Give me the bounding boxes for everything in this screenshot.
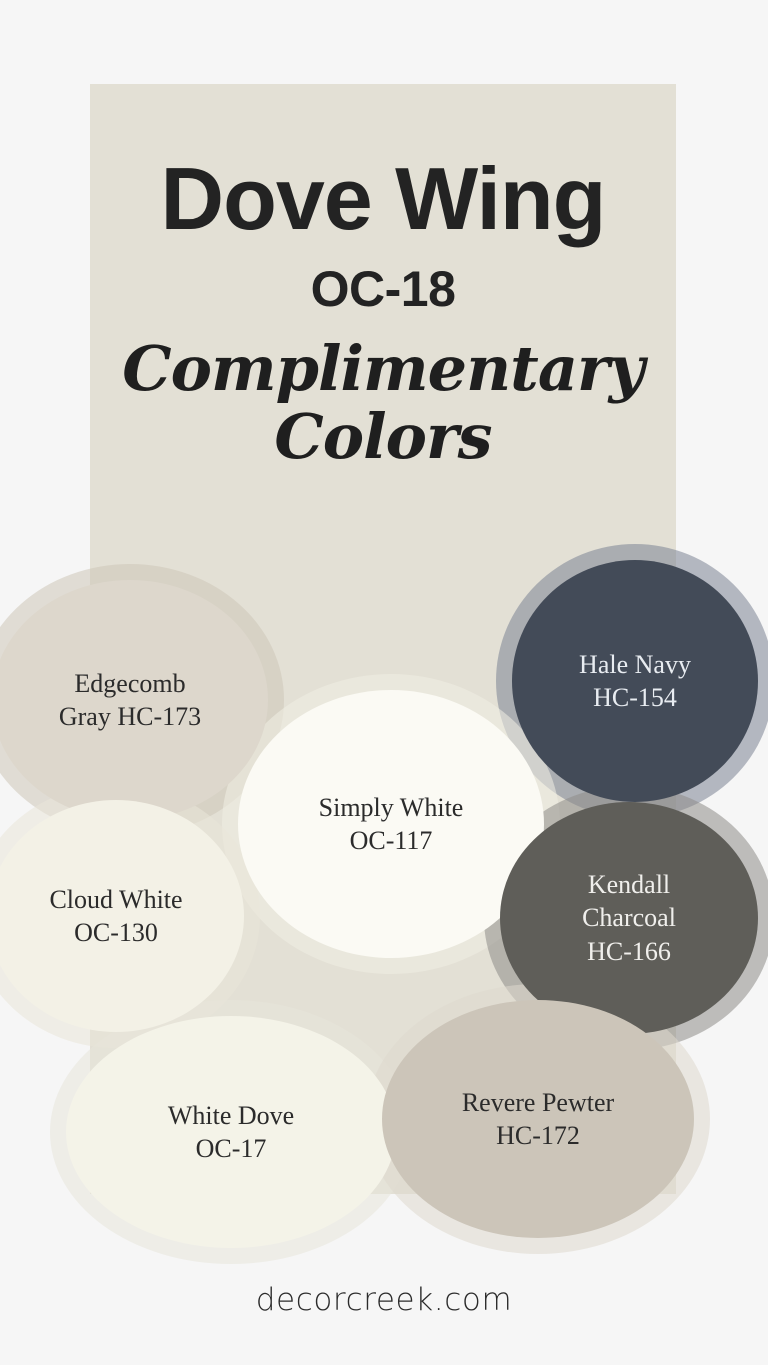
swatch-hale-navy[interactable]: Hale Navy HC-154 [512, 560, 758, 802]
swatch-label-revere-pewter: Revere Pewter HC-172 [448, 1086, 628, 1153]
subtitle-line-1: Complimentary [90, 338, 676, 400]
subtitle-line-2: Colors [90, 404, 676, 469]
swatch-cloud-white[interactable]: Cloud White OC-130 [0, 800, 244, 1032]
swatch-label-kendall-charcoal: Kendall Charcoal HC-166 [568, 868, 690, 968]
page-title: Dove Wing [90, 156, 676, 242]
swatch-label-white-dove: White Dove OC-17 [154, 1099, 308, 1166]
header-text-block: Dove Wing OC-18 Complimentary Colors [90, 84, 676, 469]
swatch-label-edgecomb-gray: Edgecomb Gray HC-173 [45, 667, 215, 734]
swatch-label-simply-white: Simply White OC-117 [305, 791, 478, 858]
site-url[interactable]: decorcreek.com [256, 1282, 513, 1318]
swatch-edgecomb-gray[interactable]: Edgecomb Gray HC-173 [0, 580, 268, 820]
swatch-label-hale-navy: Hale Navy HC-154 [565, 648, 705, 715]
swatch-revere-pewter[interactable]: Revere Pewter HC-172 [382, 1000, 694, 1238]
footer: decorcreek.com [0, 1282, 768, 1318]
swatch-label-cloud-white: Cloud White OC-130 [35, 883, 196, 950]
swatch-white-dove[interactable]: White Dove OC-17 [66, 1016, 396, 1248]
paint-code: OC-18 [90, 264, 676, 314]
swatch-simply-white[interactable]: Simply White OC-117 [238, 690, 544, 958]
